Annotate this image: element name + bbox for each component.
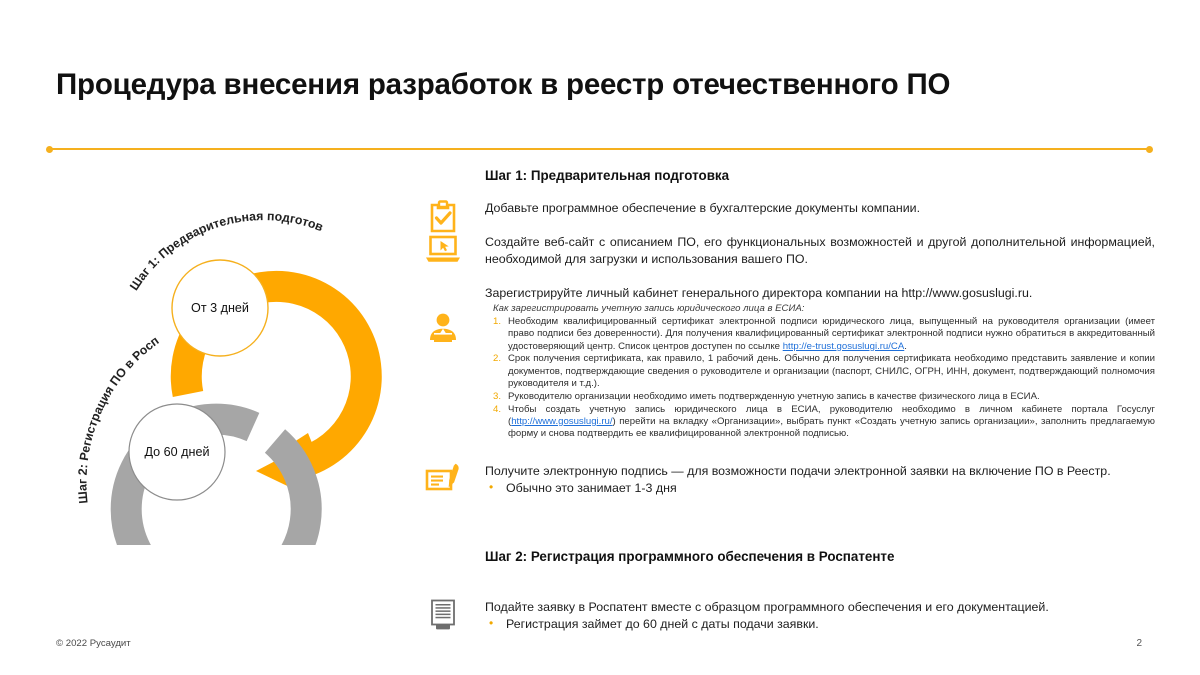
paragraph-esia-account: Зарегистрируйте личный кабинет генеральн… <box>485 285 1155 302</box>
esia-item-4-link[interactable]: http://www.gosuslugi.ru/ <box>511 416 612 427</box>
paragraph-accounting-docs: Добавьте программное обеспечение в бухга… <box>485 200 1155 217</box>
page-number: 2 <box>1136 638 1142 649</box>
copyright-text: © 2022 Русаудит <box>56 638 131 649</box>
block-website: Создайте веб-сайт с описанием ПО, его фу… <box>415 234 1155 268</box>
esia-item-2: Срок получения сертификата, как правило,… <box>493 353 1155 390</box>
step-1-heading: Шаг 1: Предварительная подготовка <box>485 168 1155 183</box>
step-2-heading: Шаг 2: Регистрация программного обеспече… <box>485 549 1155 564</box>
bullet-rospatent-duration: Регистрация займет до 60 дней с даты под… <box>485 616 1155 633</box>
esia-item-1-post: . <box>904 341 907 352</box>
document-printer-icon <box>415 599 471 631</box>
title-divider <box>47 148 1152 150</box>
slide: Процедура внесения разработок в реестр о… <box>0 0 1200 675</box>
laptop-cursor-icon <box>415 234 471 264</box>
block-accounting-docs: Добавьте программное обеспечение в бухга… <box>415 200 1155 217</box>
esia-item-4: Чтобы создать учетную запись юридическог… <box>493 404 1155 441</box>
content-column: Шаг 1: Предварительная подготовка Добавь… <box>415 168 1155 633</box>
paragraph-website: Создайте веб-сайт с описанием ПО, его фу… <box>485 234 1155 268</box>
clipboard-check-icon <box>415 200 471 234</box>
step-2-center-text: До 60 дней <box>144 445 209 459</box>
paragraph-rospatent-application: Подайте заявку в Роспатент вместе с обра… <box>485 599 1155 616</box>
esia-item-1-link[interactable]: http://e-trust.gosuslugi.ru/CA <box>783 341 905 352</box>
esia-item-1: Необходим квалифицированный сертификат э… <box>493 316 1155 353</box>
cycle-diagram: От 3 дней До 60 дней Шаг 1: Предваритель… <box>70 175 415 545</box>
paragraph-electronic-signature: Получите электронную подпись — для возмо… <box>485 463 1155 480</box>
step-1-center-text: От 3 дней <box>191 301 249 315</box>
esia-note-title: Как зарегистрировать учетную запись юрид… <box>493 302 1155 315</box>
signature-icon <box>415 463 471 493</box>
bullet-signature-duration: Обычно это занимает 1-3 дня <box>485 480 1155 497</box>
page-title: Процедура внесения разработок в реестр о… <box>56 68 1146 102</box>
esia-note-list: Необходим квалифицированный сертификат э… <box>493 316 1155 440</box>
block-rospatent-application: Подайте заявку в Роспатент вместе с обра… <box>415 599 1155 633</box>
block-esia-account: Зарегистрируйте личный кабинет генеральн… <box>415 285 1155 440</box>
esia-item-3-pre: Руководителю организации необходимо имет… <box>508 391 1040 402</box>
block-electronic-signature: Получите электронную подпись — для возмо… <box>415 463 1155 497</box>
esia-item-3: Руководителю организации необходимо имет… <box>493 391 1155 403</box>
businessman-icon <box>415 313 471 343</box>
esia-item-2-pre: Срок получения сертификата, как правило,… <box>508 353 1155 389</box>
